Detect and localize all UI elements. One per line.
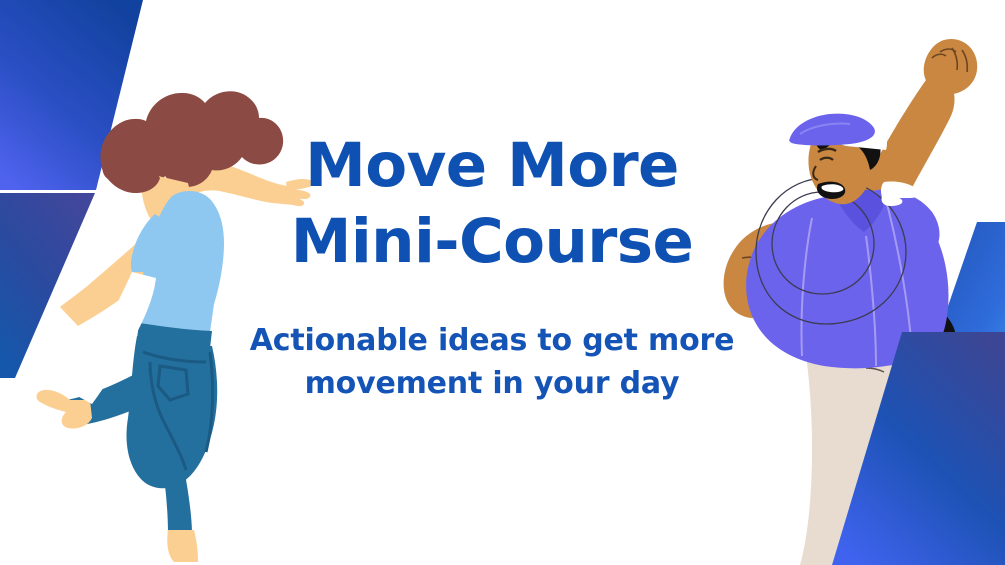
page-title: Move More Mini-Course: [212, 128, 772, 280]
title-line-1: Move More: [212, 128, 772, 204]
shape-left-triangle: [0, 193, 95, 378]
shape-top-left-parallelogram: [0, 0, 143, 190]
subtitle-line-1: Actionable ideas to get more: [212, 319, 772, 362]
title-text-block: Move More Mini-Course Actionable ideas t…: [212, 128, 772, 405]
page-subtitle: Actionable ideas to get more movement in…: [212, 319, 772, 405]
subtitle-line-2: movement in your day: [212, 362, 772, 405]
title-line-2: Mini-Course: [212, 204, 772, 280]
slide-canvas: Move More Mini-Course Actionable ideas t…: [0, 0, 1005, 565]
